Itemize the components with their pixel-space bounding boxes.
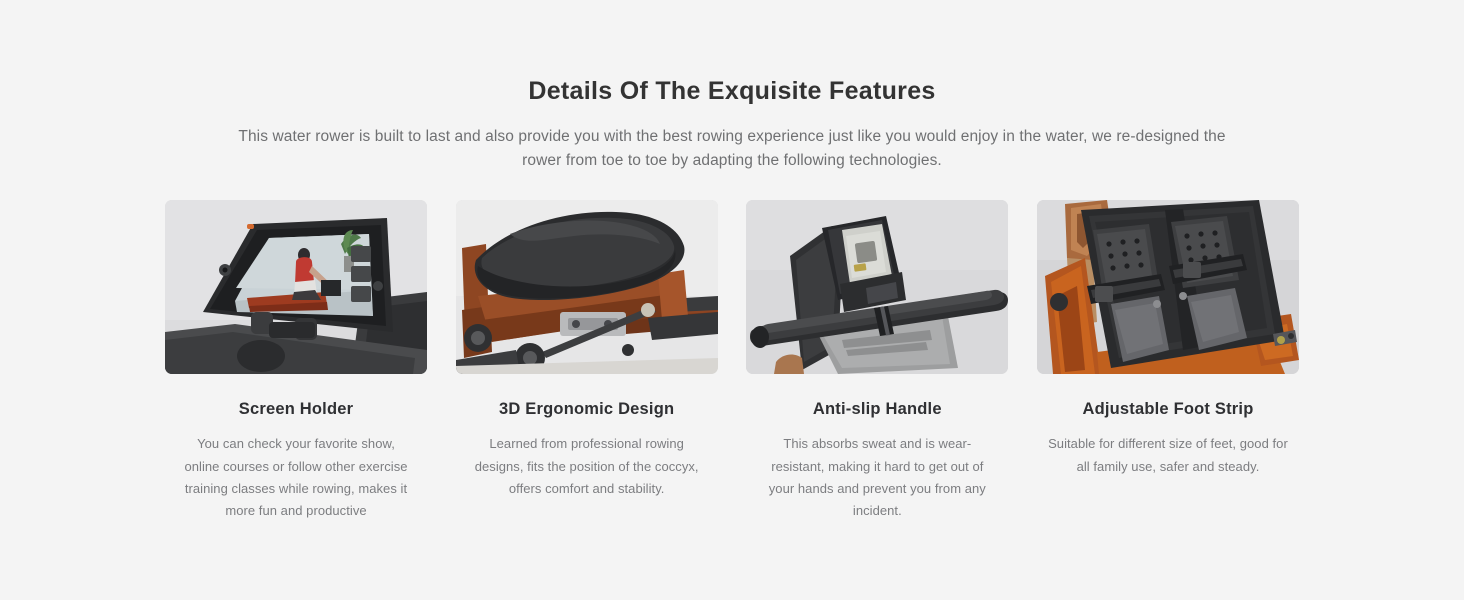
feature-card-list: Screen Holder You can check your favorit… bbox=[165, 200, 1299, 523]
page-title: Details Of The Exquisite Features bbox=[0, 78, 1464, 106]
section-subtitle: This water rower is built to last and al… bbox=[227, 125, 1237, 173]
foot-strip-photo bbox=[1037, 200, 1299, 374]
card-description: Learned from professional rowing designs… bbox=[469, 433, 704, 500]
card-description: Suitable for different size of feet, goo… bbox=[1048, 433, 1288, 478]
section-header: Details Of The Exquisite Features This w… bbox=[0, 0, 1464, 173]
feature-card[interactable]: 3D Ergonomic Design Learned from profess… bbox=[456, 200, 718, 523]
anti-slip-handle-photo bbox=[746, 200, 1008, 374]
card-title: Screen Holder bbox=[239, 400, 353, 420]
card-description: You can check your favorite show, online… bbox=[179, 433, 414, 522]
card-description: This absorbs sweat and is wear-resistant… bbox=[758, 433, 996, 522]
card-title: Anti-slip Handle bbox=[813, 400, 942, 420]
card-title: 3D Ergonomic Design bbox=[499, 400, 674, 420]
ergonomic-seat-photo bbox=[456, 200, 718, 374]
feature-card[interactable]: Screen Holder You can check your favorit… bbox=[165, 200, 427, 523]
features-section: Details Of The Exquisite Features This w… bbox=[0, 0, 1464, 600]
screen-holder-photo bbox=[165, 200, 427, 374]
card-title: Adjustable Foot Strip bbox=[1082, 400, 1253, 420]
feature-card[interactable]: Anti-slip Handle This absorbs sweat and … bbox=[746, 200, 1008, 523]
feature-card[interactable]: Adjustable Foot Strip Suitable for diffe… bbox=[1037, 200, 1299, 523]
